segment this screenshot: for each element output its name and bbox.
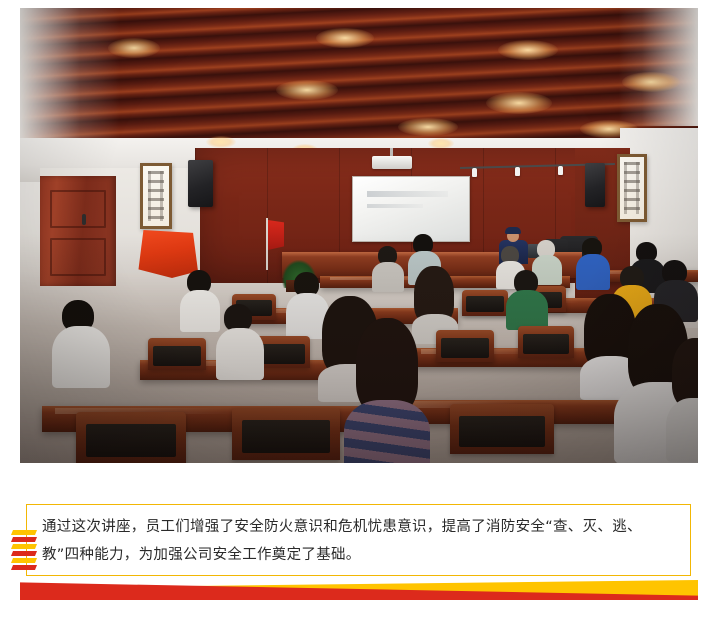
audience-chair [462, 290, 508, 316]
artwork-glyphs [148, 171, 165, 221]
ceiling-left-fade [20, 8, 120, 158]
flag-pole [266, 218, 268, 270]
screen-slide-line [367, 204, 423, 208]
audience-chair [450, 404, 554, 454]
screen-slide-line [367, 191, 448, 197]
bottom-ribbon [20, 580, 698, 600]
wall-speaker-icon [188, 160, 213, 207]
national-flag-icon [268, 220, 284, 250]
caption-text: 通过这次讲座，员工们增强了安全防火意识和危机忧患意识，提高了消防安全“查、灭、逃… [42, 513, 677, 569]
track-light-icon [515, 167, 520, 176]
accent-stripe-yellow [11, 544, 37, 549]
projector-icon [372, 156, 412, 169]
projection-screen [352, 176, 470, 242]
photo-canvas [20, 8, 698, 463]
accent-stripe-yellow [11, 558, 37, 563]
screen-surface [353, 177, 469, 241]
calligraphy-artwork [140, 163, 172, 229]
accent-stripe-red [11, 537, 37, 542]
accent-stripe-yellow [11, 530, 37, 535]
artwork-glyphs [624, 162, 639, 214]
artwork-canvas [143, 166, 169, 226]
red-draped-cover [136, 230, 198, 278]
presenter-cap [505, 227, 521, 234]
lecture-photo [20, 8, 698, 463]
article-card-page: 通过这次讲座，员工们增强了安全防火意识和危机忧患意识，提高了消防安全“查、灭、逃… [0, 0, 722, 624]
audience-chair [436, 330, 494, 362]
accent-stripe-red [11, 565, 37, 570]
audience-chair [76, 412, 186, 463]
door-panel [50, 190, 106, 228]
accent-stripe-red [11, 551, 37, 556]
track-light-icon [472, 168, 477, 177]
caption-card: 通过这次讲座，员工们增强了安全防火意识和危机忧患意识，提高了消防安全“查、灭、逃… [26, 504, 691, 576]
audience-chair [232, 408, 340, 460]
wooden-door [40, 176, 116, 286]
calligraphy-artwork [617, 154, 647, 222]
audience-chair [518, 326, 574, 358]
door-panel [50, 238, 106, 276]
track-light-icon [558, 166, 563, 175]
stripe-accent-decoration [12, 530, 38, 570]
door-handle-icon [82, 214, 86, 225]
audience-chair [148, 338, 206, 370]
artwork-canvas [620, 157, 644, 219]
wall-speaker-icon [585, 163, 605, 207]
ceiling-right-fade [618, 8, 698, 126]
